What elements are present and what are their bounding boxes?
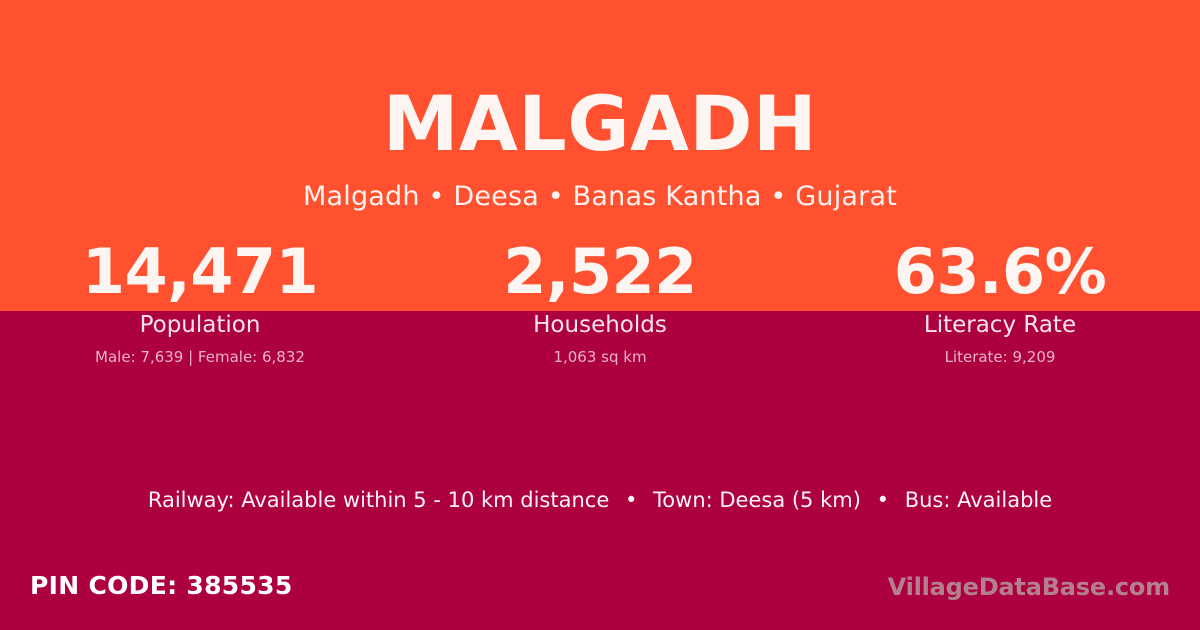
stat-detail-literacy: Literate: 9,209: [800, 347, 1200, 367]
site-brand: VillageDataBase.com: [888, 572, 1170, 602]
amenity-bus: Bus: Available: [905, 488, 1052, 512]
stat-households: 2,522 Households 1,063 sq km: [400, 238, 800, 367]
amenity-separator-2: •: [868, 488, 898, 512]
amenity-town: Town: Deesa (5 km): [653, 488, 861, 512]
stat-detail-households: 1,063 sq km: [400, 347, 800, 367]
footer: PIN CODE: 385535 VillageDataBase.com: [0, 558, 1200, 630]
stats-row: 14,471 Population Male: 7,639 | Female: …: [0, 238, 1200, 367]
stat-literacy: 63.6% Literacy Rate Literate: 9,209: [800, 238, 1200, 367]
amenity-railway: Railway: Available within 5 - 10 km dist…: [148, 488, 609, 512]
village-info-card: MALGADH Malgadh • Deesa • Banas Kantha •…: [0, 0, 1200, 630]
amenity-separator-1: •: [616, 488, 646, 512]
stat-label-households: Households: [400, 311, 800, 339]
stat-value-literacy: 63.6%: [800, 238, 1200, 306]
stat-label-literacy: Literacy Rate: [800, 311, 1200, 339]
pin-code: PIN CODE: 385535: [30, 570, 293, 602]
header: MALGADH Malgadh • Deesa • Banas Kantha •…: [0, 0, 1200, 214]
stat-value-population: 14,471: [0, 238, 400, 306]
stat-value-households: 2,522: [400, 238, 800, 306]
stat-detail-population: Male: 7,639 | Female: 6,832: [0, 347, 400, 367]
page-title: MALGADH: [0, 0, 1200, 166]
breadcrumb: Malgadh • Deesa • Banas Kantha • Gujarat: [0, 166, 1200, 214]
stat-label-population: Population: [0, 311, 400, 339]
stat-population: 14,471 Population Male: 7,639 | Female: …: [0, 238, 400, 367]
amenities-line: Railway: Available within 5 - 10 km dist…: [0, 486, 1200, 514]
